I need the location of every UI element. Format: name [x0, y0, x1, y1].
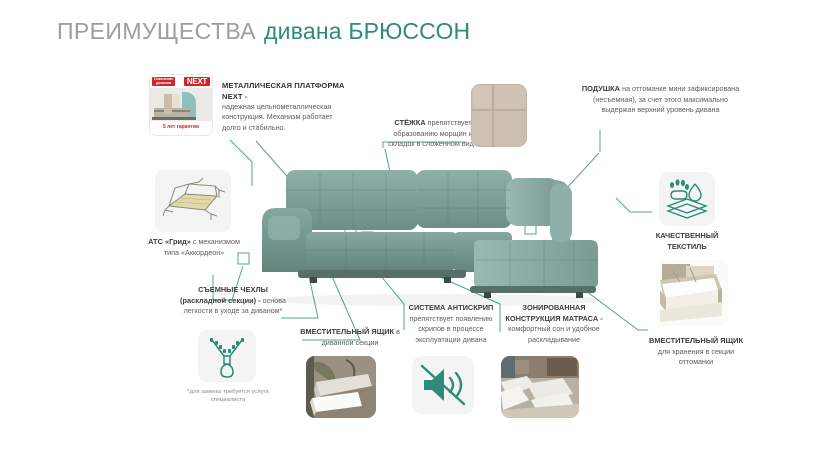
main-sofa-illustration — [258, 160, 618, 310]
feature-body: надежная цельнометаллическая конструкция… — [222, 102, 333, 132]
ottoman-storage-box-photo — [656, 260, 728, 326]
feature-heading: СИСТЕМА АНТИСКРИП — [409, 303, 494, 312]
zipper-icon-card — [198, 330, 256, 382]
feature-ottoman-storage-box: ВМЕСТИТЕЛЬНЫЙ ЯЩИК для хранения в секции… — [644, 336, 748, 368]
badge-gen-line2: диванов — [156, 81, 171, 85]
zoned-mattress-photo — [501, 356, 579, 418]
feature-heading: ВМЕСТИТЕЛЬНЫЙ ЯЩИК — [649, 336, 743, 345]
page-title: ПРЕИМУЩЕСТВАдивана БРЮССОН — [57, 18, 470, 45]
quality-textile-icon-card — [659, 172, 715, 226]
feature-body: для хранения в секции оттоманки — [658, 347, 734, 366]
feature-sofa-storage-box: ВМЕСТИТЕЛЬНЫЙ ЯЩИК в диванной секции — [297, 327, 403, 348]
badge-warranty-label: 5 лет гарантии — [150, 121, 212, 134]
badge-top-row: Поколение диванов NEXT — [150, 75, 212, 88]
feature-anti-squeak: СИСТЕМА АНТИСКРИП препятствует появлению… — [399, 303, 503, 345]
feature-heading: ВМЕСТИТЕЛЬНЫЙ ЯЩИК — [300, 327, 394, 336]
feature-body: препятствует появлению скрипов в процесс… — [410, 314, 493, 344]
feature-heading: КАЧЕСТВЕННЫЙ ТЕКСТИЛЬ — [656, 231, 719, 251]
removable-covers-footnote: *для замены требуется услуга специалиста — [182, 388, 274, 404]
mute-speaker-icon — [412, 356, 474, 414]
page-title-accent: дивана БРЮССОН — [264, 18, 470, 44]
anti-squeak-icon-card — [412, 356, 474, 414]
infographic-canvas: ПРЕИМУЩЕСТВАдивана БРЮССОН — [0, 0, 840, 450]
paw-waterdrop-fabric-icon — [659, 172, 715, 226]
pillow-closeup-photo — [471, 84, 527, 147]
zipper-icon — [198, 330, 256, 382]
feature-heading: ПОДУШКА — [582, 84, 620, 93]
feature-pillow: ПОДУШКА на оттоманке мини зафиксирована … — [578, 84, 743, 116]
feature-heading: МЕТАЛЛИЧЕСКАЯ ПЛАТФОРМА NEXT - — [222, 80, 350, 102]
badge-next-label: NEXT — [184, 77, 210, 86]
feature-removable-covers: СЪЕМНЫЕ ЧЕХЛЫ (раскладной секции) - осно… — [178, 285, 288, 317]
grid-frame-photo — [155, 170, 231, 232]
page-title-main: ПРЕИМУЩЕСТВА — [57, 18, 256, 44]
feature-ats-grid: АТС «Грид» с механизмом типа «Аккордеон» — [148, 237, 240, 258]
feature-body: комфортный сон и удобное раскладывание — [508, 324, 600, 343]
feature-heading: СЪЕМНЫЕ ЧЕХЛЫ (раскладной секции) - — [180, 285, 268, 305]
feature-quality-textile: КАЧЕСТВЕННЫЙ ТЕКСТИЛЬ — [645, 231, 729, 252]
badge-sofa-photo — [150, 88, 212, 121]
feature-zoned-mattress: ЗОНИРОВАННАЯ КОНСТРУКЦИЯ МАТРАСА - комфо… — [496, 303, 612, 345]
feature-heading: ЗОНИРОВАННАЯ КОНСТРУКЦИЯ МАТРАСА - — [505, 303, 602, 323]
next-platform-badge: Поколение диванов NEXT 5 лет гарантии — [149, 74, 213, 136]
feature-heading: АТС «Грид» — [148, 237, 191, 246]
feature-heading: СТЁЖКА — [394, 118, 425, 127]
badge-generation-label: Поколение диванов — [152, 77, 175, 87]
feature-metal-platform-next: МЕТАЛЛИЧЕСКАЯ ПЛАТФОРМА NEXT - надежная … — [222, 80, 350, 133]
sofa-storage-box-photo — [306, 356, 376, 418]
